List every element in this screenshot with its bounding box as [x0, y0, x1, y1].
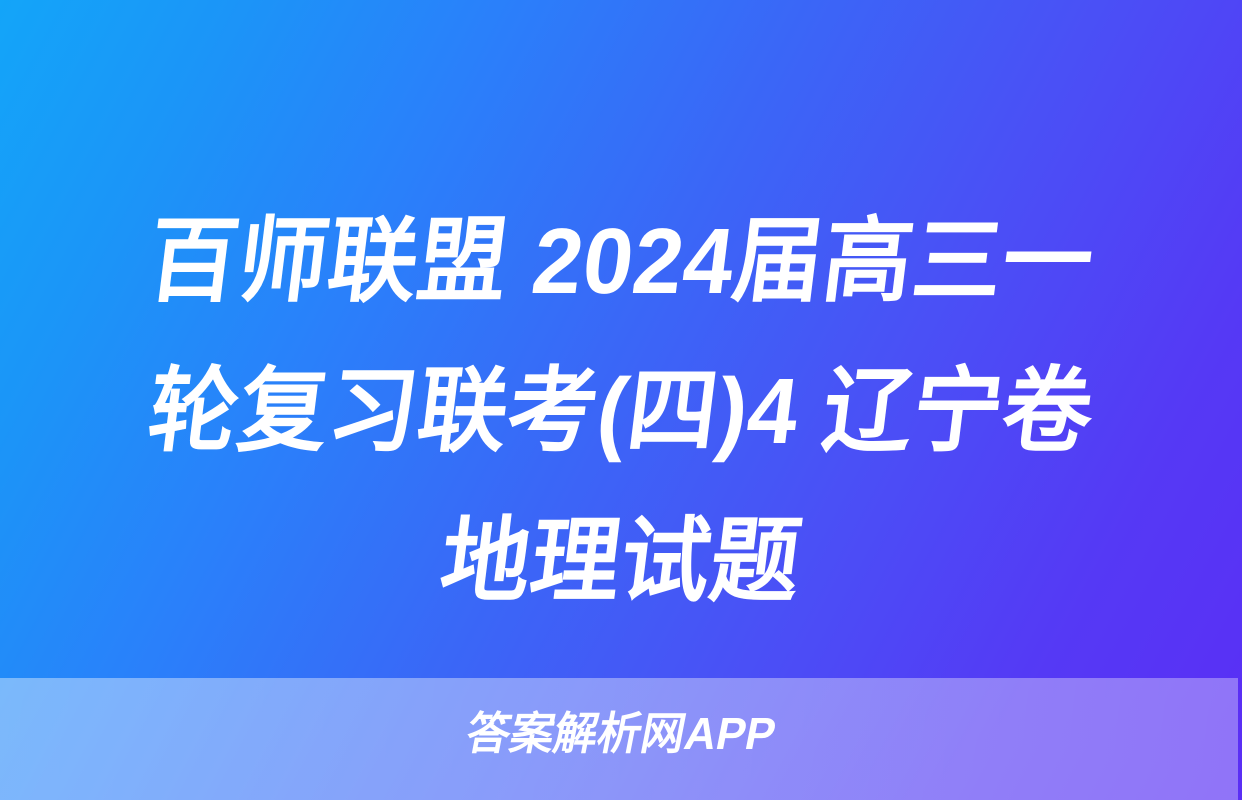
banner-title-block: 百师联盟 2024届高三一 轮复习联考(四)4 辽宁卷 地理试题	[0, 186, 1242, 636]
banner-title-line-3: 地理试题	[54, 486, 1188, 636]
exam-paper-cover-banner: 百师联盟 2024届高三一 轮复习联考(四)4 辽宁卷 地理试题 答案解析网AP…	[0, 0, 1242, 800]
banner-title-line-2: 轮复习联考(四)4 辽宁卷	[54, 336, 1188, 486]
app-watermark-label: 答案解析网APP	[13, 703, 1230, 765]
banner-title-line-1: 百师联盟 2024届高三一	[54, 186, 1188, 336]
footer-right-edge-sliver	[1238, 678, 1242, 800]
